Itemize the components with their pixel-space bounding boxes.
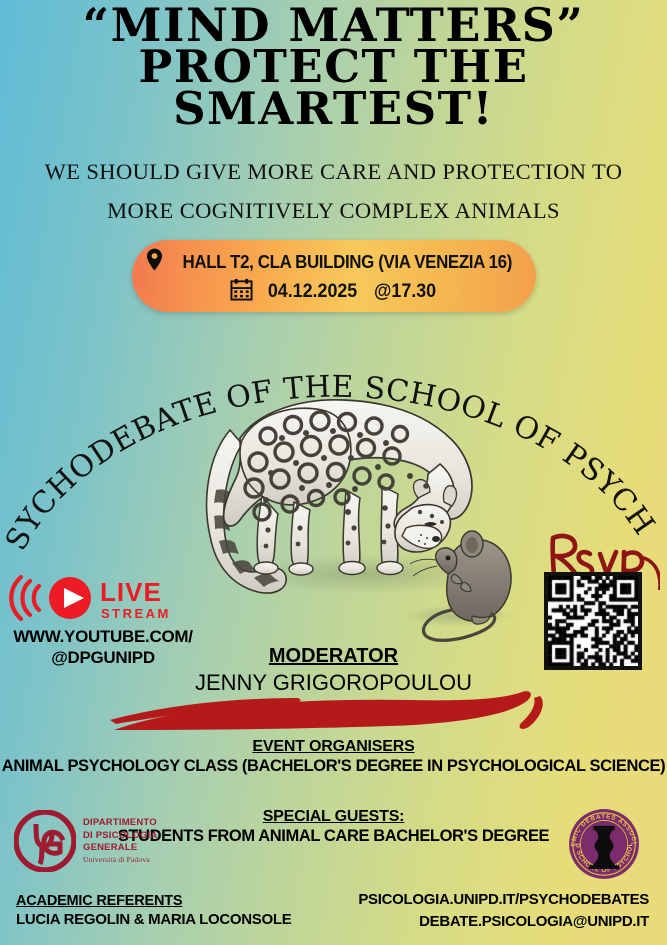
event-date: 04.12.2025: [268, 281, 357, 303]
calendar-icon: [230, 278, 253, 306]
poster-canvas: “MIND MATTERS” PROTECT THE SMARTEST! WE …: [0, 0, 667, 945]
headline-line-3: SMARTEST!: [0, 88, 667, 129]
datetime-row: 04.12.2025 @17.30: [132, 276, 536, 308]
venue-row: HALL T2, CLA BUILDING (VIA VENEZIA 16): [132, 246, 536, 278]
live-label: LIVE: [100, 577, 162, 607]
psi-g-monogram-icon: [14, 810, 76, 872]
organisers-label: EVENT ORGANISERS: [0, 738, 667, 756]
dpg-logo: DIPARTIMENTO DI PSICOLOGIA GENERALE Univ…: [14, 806, 174, 876]
venue-text: HALL T2, CLA BUILDING (VIA VENEZIA 16): [182, 252, 511, 273]
dpg-line-3: GENERALE: [83, 842, 157, 854]
moderator-label: MODERATOR: [0, 645, 667, 668]
email-address[interactable]: DEBATE.PSICOLOGIA@UNIPD.IT: [358, 911, 649, 933]
dpg-subtitle: Università di Padova: [83, 855, 157, 865]
academic-debates-association-seal: ACADEMIC DEBATES ASSOCIATION UNIPD SCHOO…: [566, 806, 642, 882]
event-organisers-block: EVENT ORGANISERS ANIMAL PSYCHOLOGY CLASS…: [0, 738, 667, 776]
dpg-line-1: DIPARTIMENTO: [83, 817, 157, 829]
subtitle: WE SHOULD GIVE MORE CARE AND PROTECTION …: [0, 152, 667, 231]
contact-block: PSICOLOGIA.UNIPD.IT/PSYCHODEBATES DEBATE…: [358, 889, 649, 933]
organisers-value: ANIMAL PSYCHOLOGY CLASS (BACHELOR'S DEGR…: [0, 757, 667, 776]
map-pin-icon: [146, 248, 163, 276]
event-info-pill: HALL T2, CLA BUILDING (VIA VENEZIA 16) 0…: [132, 240, 536, 312]
event-time: @17.30: [374, 281, 436, 303]
subtitle-line-1: WE SHOULD GIVE MORE CARE AND PROTECTION …: [0, 152, 667, 191]
red-swoosh-divider: [110, 686, 550, 734]
cheetah-and-mouse-illustration: [196, 378, 526, 646]
live-stream-badge[interactable]: LIVE STREAM: [8, 572, 198, 624]
academic-referents-names: LUCIA REGOLIN & MARIA LOCONSOLE: [16, 911, 291, 928]
stream-label: STREAM: [101, 606, 171, 621]
academic-referents-label: ACADEMIC REFERENTS: [16, 893, 291, 909]
dpg-logo-text: DIPARTIMENTO DI PSICOLOGIA GENERALE Univ…: [83, 817, 157, 864]
subtitle-line-2: MORE COGNITIVELY COMPLEX ANIMALS: [0, 191, 667, 230]
dpg-line-2: DI PSICOLOGIA: [83, 830, 157, 842]
page-title: “MIND MATTERS” PROTECT THE SMARTEST!: [0, 4, 667, 129]
academic-referents-block: ACADEMIC REFERENTS LUCIA REGOLIN & MARIA…: [16, 893, 291, 928]
website-url[interactable]: PSICOLOGIA.UNIPD.IT/PSYCHODEBATES: [358, 889, 649, 911]
